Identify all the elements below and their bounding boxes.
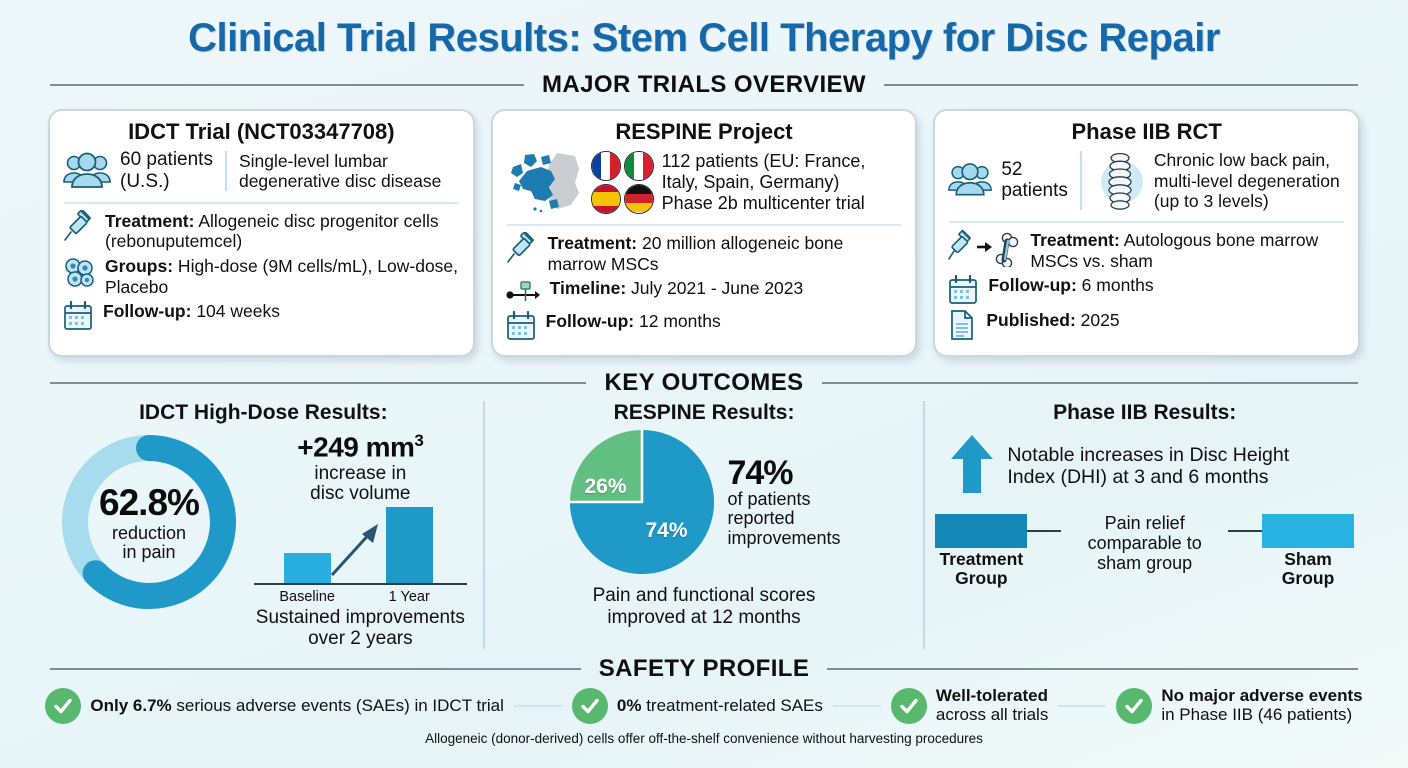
bar-chart-disc-volume: Baseline 1 Year [254, 507, 467, 603]
trial-cards: IDCT Trial (NCT03347708) 60 patients (U.… [0, 99, 1408, 357]
idct-followup-value: 104 weeks [191, 301, 280, 321]
phase2b-published-label: Published: [986, 310, 1075, 330]
safety-rest-4: in Phase IIB (46 patients) [1161, 705, 1352, 724]
outcomes-row: IDCT High-Dose Results: 62.8% reduction … [0, 397, 1408, 649]
phase2b-dhi-text: Notable increases in Disc Height Index (… [1007, 445, 1289, 489]
bar-chart-axis [254, 583, 467, 585]
respine-stat-sub: of patients reported improvements [727, 490, 840, 549]
phase2b-fact-followup: Follow-up: 6 months [947, 274, 1346, 306]
phase2b-treatment-text: Treatment: Autologous bone marrow MSCs v… [1030, 229, 1346, 271]
phase2b-fact-published: Published: 2025 [947, 309, 1346, 341]
section-header-outcomes: KEY OUTCOMES [50, 369, 1358, 397]
phase2b-followup-value: 6 months [1077, 275, 1154, 295]
safety-bold-1: Only 6.7% [90, 696, 171, 715]
calendar-icon [505, 310, 537, 342]
cells-icon [62, 255, 96, 289]
safety-bold-3: Well-tolerated [936, 686, 1048, 705]
outcome-title-idct: IDCT High-Dose Results: [54, 401, 473, 425]
check-icon [572, 688, 608, 724]
idct-fact-followup: Follow-up: 104 weeks [62, 300, 461, 332]
section-title-safety: SAFETY PROFILE [599, 655, 810, 683]
respine-timeline-label: Timeline: [550, 278, 627, 298]
sham-group-bar [1262, 514, 1354, 548]
bar-one-year [386, 507, 433, 583]
section-title-trials: MAJOR TRIALS OVERVIEW [542, 71, 866, 99]
syringe-bone-icon [947, 229, 1021, 267]
respine-timeline-value: July 2021 - June 2023 [626, 278, 803, 298]
idct-groups-label: Groups: [105, 256, 173, 276]
check-icon [891, 688, 927, 724]
eu-flags [591, 151, 654, 214]
idct-treatment-label: Treatment: [105, 211, 194, 231]
safety-bold-4: No major adverse events [1161, 686, 1362, 705]
donut-percent: 62.8% [99, 482, 199, 524]
respine-fact-treatment: Treatment: 20 million allogeneic bone ma… [505, 232, 904, 274]
treatment-group: Treatment Group [935, 514, 1027, 588]
italy-flag [624, 151, 654, 181]
donut-sublabel: reduction in pain [112, 524, 186, 563]
card-title-respine: RESPINE Project [505, 119, 904, 145]
respine-visuals: 26% 74% 74% of patients reported improve… [495, 427, 914, 577]
safety-rest-3: across all trials [936, 705, 1048, 724]
respine-treatment-text: Treatment: 20 million allogeneic bone ma… [548, 232, 904, 274]
connector-right [1228, 530, 1262, 532]
divider-line-left [50, 84, 524, 86]
outcome-col-phase2b: Phase IIB Results: Notable increases in … [923, 401, 1364, 649]
phase2b-followup-label: Follow-up: [988, 275, 1076, 295]
people-icon [947, 161, 993, 199]
phase2b-groups: Treatment Group Pain relief comparable t… [935, 514, 1354, 588]
europe-map-icon [505, 149, 583, 215]
card-summary-respine: 112 patients (EU: France, Italy, Spain, … [505, 149, 904, 221]
divider-line-right [827, 668, 1358, 670]
idct-patient-count: 60 patients (U.S.) [120, 149, 213, 193]
disc-volume-head: +249 mm3 increase in disc volume [248, 431, 473, 504]
france-flag [591, 151, 621, 181]
respine-treatment-label: Treatment: [548, 233, 637, 253]
page-title: Clinical Trial Results: Stem Cell Therap… [0, 0, 1408, 61]
disc-volume-number: +249 mm3 [248, 431, 473, 463]
safety-rest-1: serious adverse events (SAEs) in IDCT tr… [172, 696, 504, 715]
respine-caption: Pain and functional scores improved at 1… [495, 585, 914, 628]
timeline-icon [505, 277, 541, 307]
disc-volume-block: +249 mm3 increase in disc volume Baselin… [248, 427, 473, 649]
safety-connector-1 [514, 705, 562, 707]
sham-group-label: Sham Group [1262, 550, 1354, 588]
connector-left [1027, 530, 1061, 532]
trial-card-idct[interactable]: IDCT Trial (NCT03347708) 60 patients (U.… [48, 109, 475, 357]
idct-groups-text: Groups: High-dose (9M cells/mL), Low-dos… [105, 255, 461, 297]
phase2b-patient-count: 52 patients [1001, 159, 1068, 203]
card-title-phase2b: Phase IIB RCT [947, 119, 1346, 145]
bar-label-baseline: Baseline [263, 589, 352, 605]
germany-flag [624, 184, 654, 214]
safety-item-1: Only 6.7% serious adverse events (SAEs) … [45, 688, 504, 724]
respine-fact-followup: Follow-up: 12 months [505, 310, 904, 342]
document-icon [947, 309, 977, 341]
people-icon [62, 151, 112, 191]
spain-flag [591, 184, 621, 214]
safety-item-2: 0% treatment-related SAEs [572, 688, 823, 724]
horizontal-divider [64, 202, 459, 204]
phase2b-followup-text: Follow-up: 6 months [988, 274, 1153, 296]
safety-connector-3 [1058, 705, 1106, 707]
phase2b-condition: Chronic low back pain, multi-level degen… [1154, 149, 1340, 212]
phase2b-published-text: Published: 2025 [986, 309, 1119, 331]
respine-followup-text: Follow-up: 12 months [546, 310, 721, 332]
syringe-icon [62, 210, 96, 244]
respine-stat-big: 74% [727, 456, 840, 490]
pie-label-major: 74% [645, 519, 687, 543]
vertical-divider [1080, 151, 1082, 210]
card-summary-phase2b: 52 patients Chronic low back pa [947, 149, 1346, 218]
outcome-title-phase2b: Phase IIB Results: [935, 401, 1354, 425]
trial-card-phase2b[interactable]: Phase IIB RCT 52 patients [933, 109, 1360, 357]
calendar-icon [947, 274, 979, 306]
phase2b-treatment-label: Treatment: [1030, 230, 1119, 250]
treatment-group-bar [935, 514, 1027, 548]
outcome-col-respine: RESPINE Results: 26% 74% 74% of patients… [483, 401, 924, 649]
horizontal-divider [949, 221, 1344, 223]
check-icon [45, 688, 81, 724]
idct-fact-groups: Groups: High-dose (9M cells/mL), Low-dos… [62, 255, 461, 297]
treatment-group-label: Treatment Group [935, 550, 1027, 588]
up-arrow-icon [949, 433, 995, 500]
bar-label-one-year: 1 Year [369, 589, 450, 605]
respine-timeline-text: Timeline: July 2021 - June 2023 [550, 277, 804, 299]
spine-icon [1094, 150, 1146, 210]
respine-followup-value: 12 months [634, 311, 721, 331]
idct-visuals: 62.8% reduction in pain +249 mm3 increas… [54, 427, 473, 649]
respine-stat: 74% of patients reported improvements [727, 456, 840, 549]
idct-treatment-text: Treatment: Allogeneic disc progenitor ce… [105, 210, 461, 252]
section-header-safety: SAFETY PROFILE [50, 655, 1358, 683]
syringe-icon [505, 232, 539, 266]
safety-bold-2: 0% [617, 696, 642, 715]
pie-chart-improvement: 26% 74% [567, 427, 717, 577]
card-summary-idct: 60 patients (U.S.) Single-level lumbar d… [62, 149, 461, 199]
horizontal-divider [507, 224, 902, 226]
bar-baseline [284, 553, 331, 583]
disc-volume-exponent: 3 [414, 431, 423, 450]
outcome-col-idct: IDCT High-Dose Results: 62.8% reduction … [44, 401, 483, 649]
phase2b-published-value: 2025 [1076, 310, 1120, 330]
pie-label-minor: 26% [584, 475, 626, 499]
safety-items-row: Only 6.7% serious adverse events (SAEs) … [0, 683, 1408, 724]
divider-line-left [50, 382, 586, 384]
divider-line-right [822, 382, 1358, 384]
donut-chart-pain-reduction: 62.8% reduction in pain [54, 427, 244, 617]
calendar-icon [62, 300, 94, 332]
idct-condition: Single-level lumbar degenerative disc di… [239, 150, 441, 192]
donut-center-label: 62.8% reduction in pain [54, 427, 244, 617]
disc-volume-sub: increase in disc volume [248, 464, 473, 505]
safety-item-4: No major adverse eventsin Phase IIB (46 … [1116, 687, 1362, 724]
check-icon [1116, 688, 1152, 724]
idct-followup-text: Follow-up: 104 weeks [103, 300, 280, 322]
respine-followup-label: Follow-up: [546, 311, 634, 331]
phase2b-fact-treatment: Treatment: Autologous bone marrow MSCs v… [947, 229, 1346, 271]
section-title-outcomes: KEY OUTCOMES [604, 369, 803, 397]
respine-patients: 112 patients (EU: France, Italy, Spain, … [662, 150, 866, 215]
safety-connector-2 [833, 705, 881, 707]
safety-text-1: Only 6.7% serious adverse events (SAEs) … [90, 697, 504, 716]
phase2b-middle-text: Pain relief comparable to sham group [1061, 514, 1228, 573]
safety-text-2: 0% treatment-related SAEs [617, 697, 823, 716]
idct-caption: Sustained improvements over 2 years [248, 607, 473, 650]
safety-rest-2: treatment-related SAEs [641, 696, 822, 715]
divider-line-right [884, 84, 1358, 86]
safety-item-3: Well-toleratedacross all trials [891, 687, 1048, 724]
divider-line-left [50, 668, 581, 670]
disc-volume-value: +249 mm [297, 432, 414, 463]
vertical-divider [225, 151, 227, 191]
idct-followup-label: Follow-up: [103, 301, 191, 321]
section-header-trials: MAJOR TRIALS OVERVIEW [50, 71, 1358, 99]
phase2b-dhi-row: Notable increases in Disc Height Index (… [935, 427, 1354, 500]
idct-fact-treatment: Treatment: Allogeneic disc progenitor ce… [62, 210, 461, 252]
trial-card-respine[interactable]: RESPINE Project 112 patients (EU: France… [491, 109, 918, 357]
sham-group: Sham Group [1262, 514, 1354, 588]
respine-fact-timeline: Timeline: July 2021 - June 2023 [505, 277, 904, 307]
footer-note: Allogeneic (donor-derived) cells offer o… [0, 731, 1408, 746]
outcome-title-respine: RESPINE Results: [495, 401, 914, 425]
safety-text-4: No major adverse eventsin Phase IIB (46 … [1161, 687, 1362, 724]
safety-text-3: Well-toleratedacross all trials [936, 687, 1048, 724]
card-title-idct: IDCT Trial (NCT03347708) [62, 119, 461, 145]
